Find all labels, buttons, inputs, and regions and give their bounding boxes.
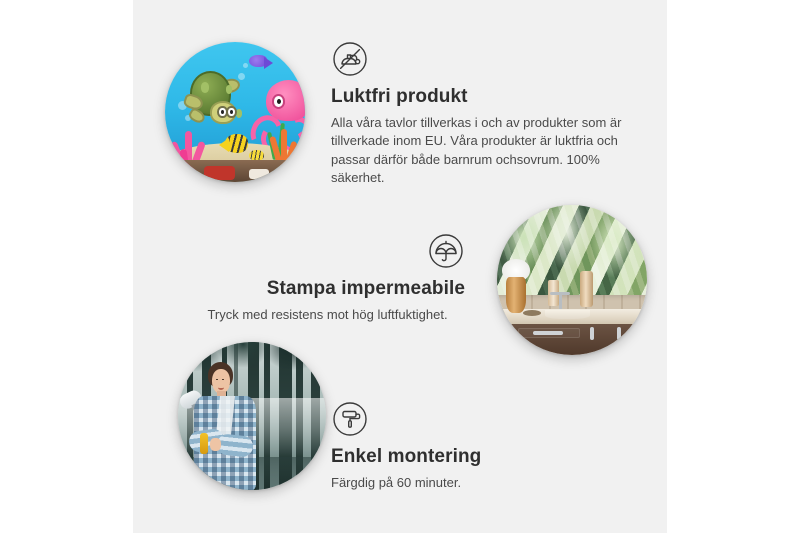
umbrella-icon: [427, 232, 465, 270]
feature-title: Enkel montering: [331, 445, 611, 469]
feature-image-forest-woman: [178, 342, 326, 490]
feature-description: Tryck med resistens mot hög luftfuktighe…: [190, 306, 465, 324]
feature-title: Stampa impermeabile: [190, 277, 465, 301]
promo-banner: Luktfri produkt Alla våra tavlor tillver…: [0, 0, 800, 533]
feature-description: Alla våra tavlor tillverkas i och av pro…: [331, 114, 631, 188]
feature-block-odour-free: Luktfri produkt Alla våra tavlor tillver…: [331, 40, 631, 188]
feature-block-waterproof: Stampa impermeabile Tryck med resistens …: [190, 232, 465, 324]
feature-image-underwater: [165, 42, 305, 182]
feature-title: Luktfri produkt: [331, 85, 631, 109]
no-odour-icon: [331, 40, 631, 78]
paint-roller-icon: [331, 400, 611, 438]
feature-description: Färgdig på 60 minuter.: [331, 474, 611, 492]
feature-block-easy-assembly: Enkel montering Färgdig på 60 minuter.: [331, 400, 611, 492]
feature-image-bathroom: [497, 205, 647, 355]
